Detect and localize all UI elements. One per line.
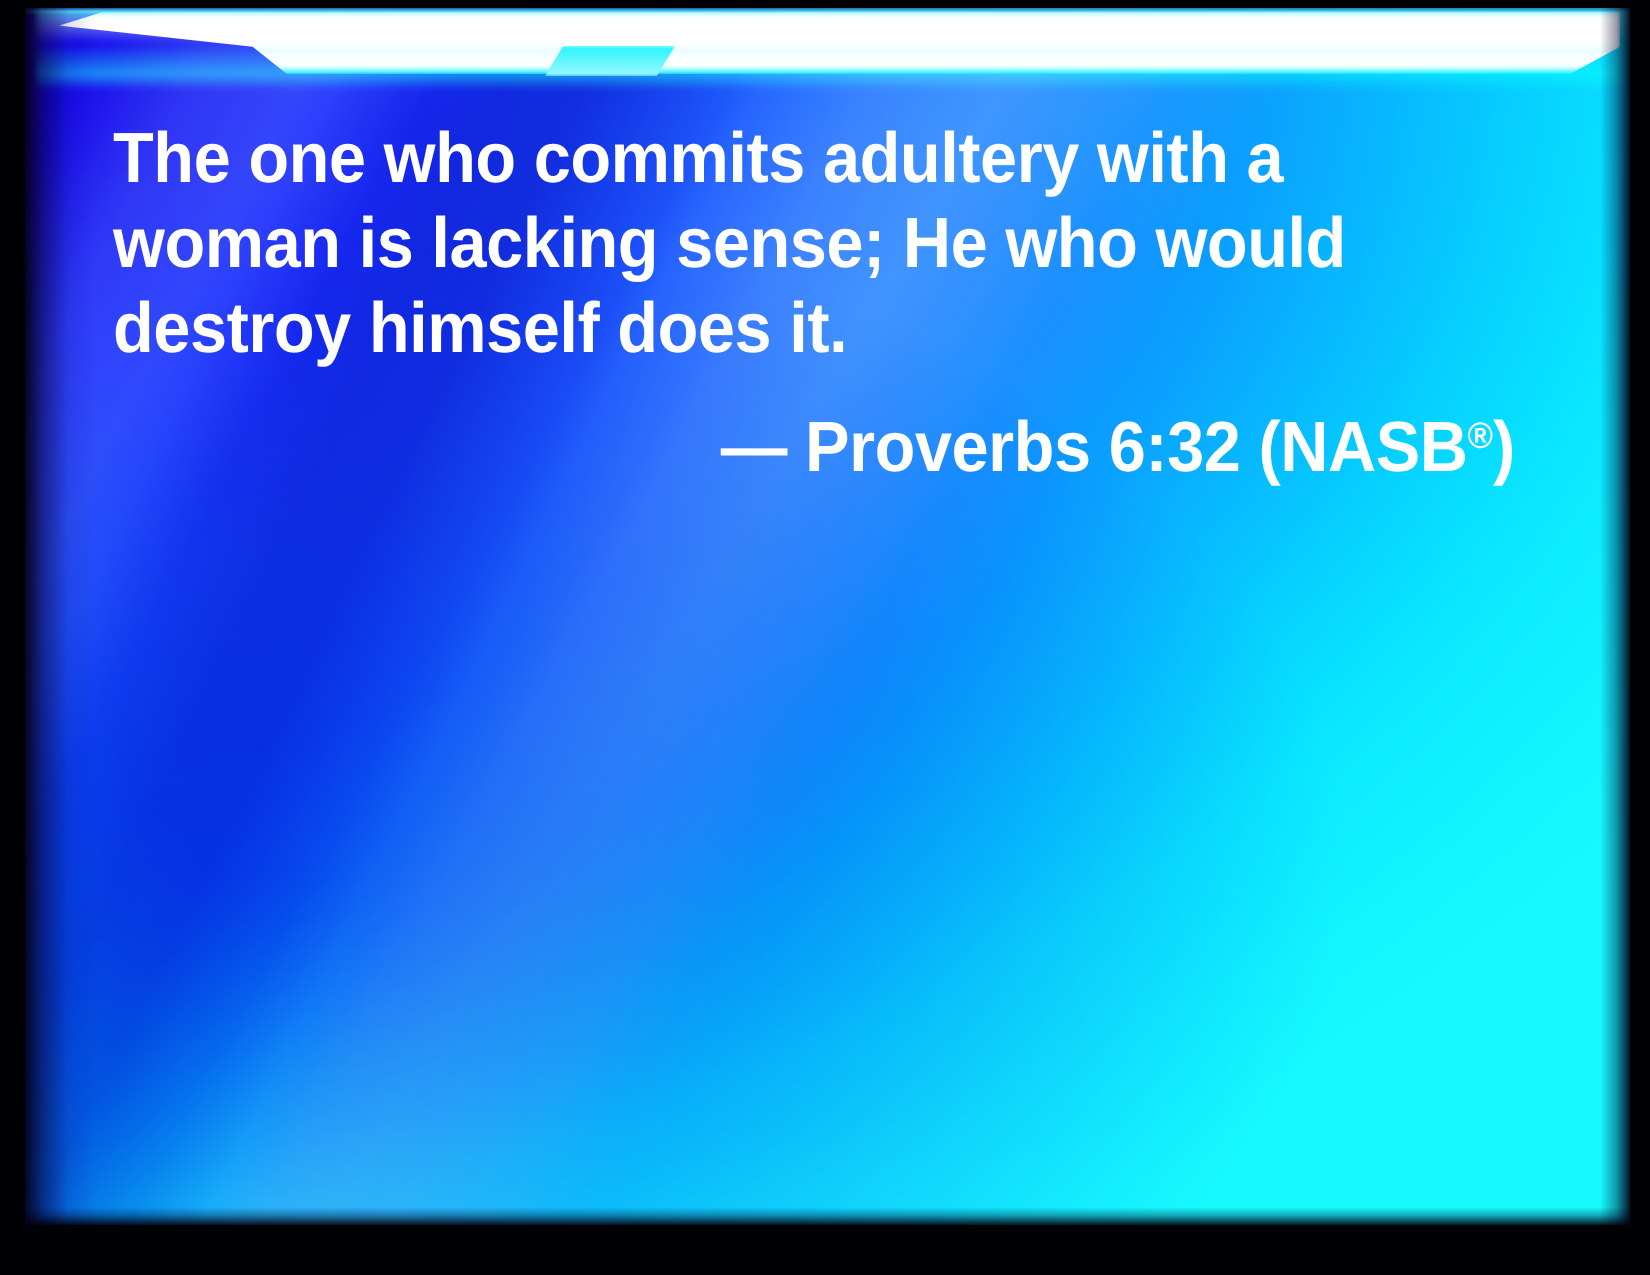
attribution-dash: — [721,408,787,487]
attribution-translation-close: ) [1493,408,1515,487]
attribution-translation-open: (NASB [1259,408,1468,487]
verse-text-block: The one who commits adultery with a woma… [113,116,1533,490]
attribution-text: — Proverbs 6:32 (NASB®) [721,393,1515,490]
slide-artwork: The one who commits adultery with a woma… [25,8,1630,1225]
verse-slide: The one who commits adultery with a woma… [0,0,1650,1275]
verse-line-1: The one who commits adultery with a [113,116,1448,201]
verse-line-3: destroy himself does it. [113,286,1448,371]
registered-trademark-icon: ® [1468,415,1494,456]
verse-line-2: woman is lacking sense; He who would [113,201,1448,286]
verse-attribution: — Proverbs 6:32 (NASB®) [113,393,1533,490]
attribution-reference: Proverbs 6:32 [805,408,1240,487]
